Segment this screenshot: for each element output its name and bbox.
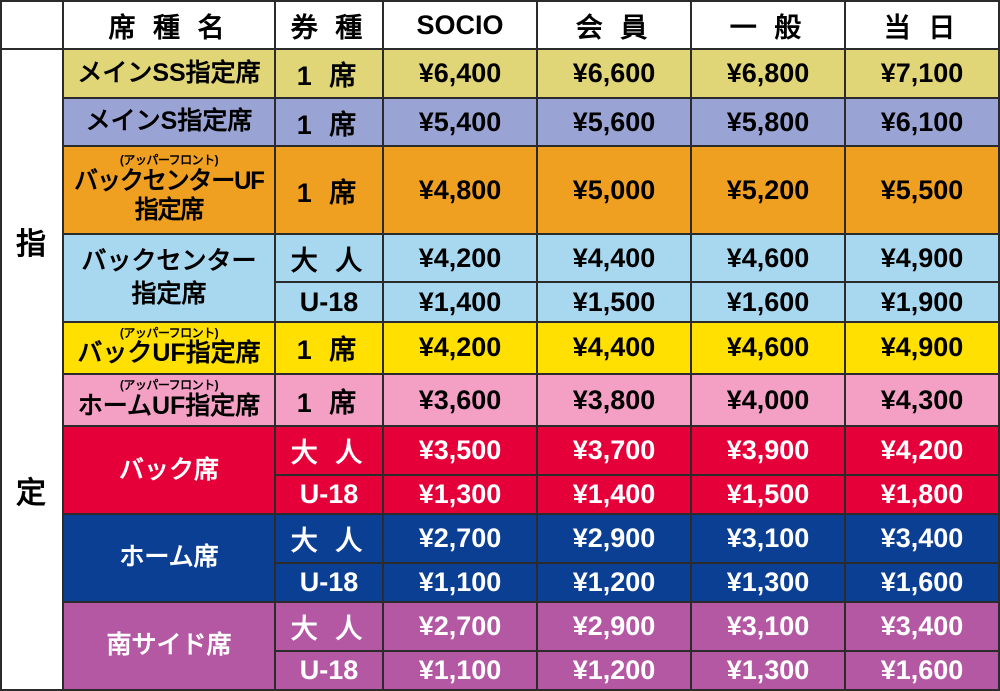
header-price-general: 一 般: [691, 1, 845, 49]
price-sameday-back-u18: ¥1,800: [845, 475, 999, 514]
price-sameday-home-u18: ¥1,600: [845, 563, 999, 602]
seat-name-back-center-uf: (アッパーフロント) バックセンターUF指定席: [63, 146, 275, 233]
table-row: 指 定 メインSS指定席 1 席 ¥6,400 ¥6,600 ¥6,800 ¥7…: [1, 49, 999, 98]
header-price-sameday: 当 日: [845, 1, 999, 49]
header-price-member: 会 員: [537, 1, 691, 49]
ticket-type-main-s: 1 席: [275, 98, 383, 147]
price-general-home-adult: ¥3,100: [691, 514, 845, 563]
group-label-shitei: 指 定: [1, 49, 63, 690]
price-member-south-side-u18: ¥1,200: [537, 651, 691, 690]
seat-ruby-home-uf: (アッパーフロント): [64, 379, 274, 392]
price-socio-main-ss: ¥6,400: [383, 49, 537, 98]
header-ticket-type: 券 種: [275, 1, 383, 49]
price-general-back-center-u18: ¥1,600: [691, 282, 845, 321]
price-general-home-u18: ¥1,300: [691, 563, 845, 602]
ticket-type-back-uf: 1 席: [275, 322, 383, 374]
price-sameday-home-adult: ¥3,400: [845, 514, 999, 563]
price-member-main-s: ¥5,600: [537, 98, 691, 147]
price-sameday-back-center-adult: ¥4,900: [845, 234, 999, 283]
price-member-back-adult: ¥3,700: [537, 426, 691, 475]
price-general-main-ss: ¥6,800: [691, 49, 845, 98]
ticket-type-south-side-u18: U-18: [275, 651, 383, 690]
table-row: 南サイド席 大 人 ¥2,700 ¥2,900 ¥3,100 ¥3,400: [1, 602, 999, 651]
price-member-back-center-adult: ¥4,400: [537, 234, 691, 283]
price-sameday-back-center-uf: ¥5,500: [845, 146, 999, 233]
seat-name-back-center: バックセンター 指定席: [63, 234, 275, 322]
table-row: バックセンター 指定席 大 人 ¥4,200 ¥4,400 ¥4,600 ¥4,…: [1, 234, 999, 283]
ticket-type-south-side-adult: 大 人: [275, 602, 383, 651]
price-member-home-u18: ¥1,200: [537, 563, 691, 602]
price-member-back-center-u18: ¥1,500: [537, 282, 691, 321]
ticket-type-back-center-u18: U-18: [275, 282, 383, 321]
price-general-south-side-adult: ¥3,100: [691, 602, 845, 651]
ticket-type-back-adult: 大 人: [275, 426, 383, 475]
header-price-socio: SOCIO: [383, 1, 537, 49]
group-label-char-1: 指: [16, 230, 48, 260]
group-label-char-2: 定: [16, 479, 48, 509]
table-header-row: 席 種 名 券 種 SOCIO 会 員 一 般 当 日: [1, 1, 999, 49]
table-row: ホーム席 大 人 ¥2,700 ¥2,900 ¥3,100 ¥3,400: [1, 514, 999, 563]
seat-name-main-ss: メインSS指定席: [63, 49, 275, 98]
price-sameday-back-uf: ¥4,900: [845, 322, 999, 374]
price-socio-back-uf: ¥4,200: [383, 322, 537, 374]
table-row: メインS指定席 1 席 ¥5,400 ¥5,600 ¥5,800 ¥6,100: [1, 98, 999, 147]
price-general-main-s: ¥5,800: [691, 98, 845, 147]
price-general-back-u18: ¥1,500: [691, 475, 845, 514]
price-general-back-adult: ¥3,900: [691, 426, 845, 475]
header-group-blank: [1, 1, 63, 49]
price-socio-back-adult: ¥3,500: [383, 426, 537, 475]
price-general-back-center-uf: ¥5,200: [691, 146, 845, 233]
ticket-type-back-center-uf: 1 席: [275, 146, 383, 233]
seat-name-back-uf: (アッパーフロント) バックUF指定席: [63, 322, 275, 374]
price-socio-main-s: ¥5,400: [383, 98, 537, 147]
price-general-back-center-adult: ¥4,600: [691, 234, 845, 283]
seat-name-main-s: メインS指定席: [63, 98, 275, 147]
ticket-type-back-center-adult: 大 人: [275, 234, 383, 283]
price-sameday-home-uf: ¥4,300: [845, 374, 999, 426]
price-member-south-side-adult: ¥2,900: [537, 602, 691, 651]
price-socio-back-u18: ¥1,300: [383, 475, 537, 514]
price-general-home-uf: ¥4,000: [691, 374, 845, 426]
seat-name-back: バック席: [63, 426, 275, 514]
table-row: バック席 大 人 ¥3,500 ¥3,700 ¥3,900 ¥4,200: [1, 426, 999, 475]
ticket-type-home-uf: 1 席: [275, 374, 383, 426]
header-seat-name: 席 種 名: [63, 1, 275, 49]
ticket-price-table: 席 種 名 券 種 SOCIO 会 員 一 般 当 日 指 定 メインSS指定席…: [0, 0, 1000, 691]
price-sameday-main-ss: ¥7,100: [845, 49, 999, 98]
price-socio-south-side-u18: ¥1,100: [383, 651, 537, 690]
price-socio-back-center-u18: ¥1,400: [383, 282, 537, 321]
seat-name-home-uf: (アッパーフロント) ホームUF指定席: [63, 374, 275, 426]
ticket-type-main-ss: 1 席: [275, 49, 383, 98]
price-member-back-center-uf: ¥5,000: [537, 146, 691, 233]
table-row: (アッパーフロント) バックセンターUF指定席 1 席 ¥4,800 ¥5,00…: [1, 146, 999, 233]
price-general-south-side-u18: ¥1,300: [691, 651, 845, 690]
price-socio-back-center-uf: ¥4,800: [383, 146, 537, 233]
price-sameday-south-side-adult: ¥3,400: [845, 602, 999, 651]
price-member-back-u18: ¥1,400: [537, 475, 691, 514]
seat-ruby-back-uf: (アッパーフロント): [64, 327, 274, 340]
price-socio-home-u18: ¥1,100: [383, 563, 537, 602]
price-socio-back-center-adult: ¥4,200: [383, 234, 537, 283]
price-socio-home-uf: ¥3,600: [383, 374, 537, 426]
ticket-type-home-u18: U-18: [275, 563, 383, 602]
price-sameday-back-center-u18: ¥1,900: [845, 282, 999, 321]
price-general-back-uf: ¥4,600: [691, 322, 845, 374]
table-row: (アッパーフロント) バックUF指定席 1 席 ¥4,200 ¥4,400 ¥4…: [1, 322, 999, 374]
price-sameday-main-s: ¥6,100: [845, 98, 999, 147]
seat-name-south-side: 南サイド席: [63, 602, 275, 690]
table-row: (アッパーフロント) ホームUF指定席 1 席 ¥3,600 ¥3,800 ¥4…: [1, 374, 999, 426]
seat-ruby-back-center-uf: (アッパーフロント): [64, 154, 274, 167]
price-socio-south-side-adult: ¥2,700: [383, 602, 537, 651]
price-sameday-back-adult: ¥4,200: [845, 426, 999, 475]
price-member-home-adult: ¥2,900: [537, 514, 691, 563]
seat-name-home: ホーム席: [63, 514, 275, 602]
price-member-main-ss: ¥6,600: [537, 49, 691, 98]
price-sameday-south-side-u18: ¥1,600: [845, 651, 999, 690]
price-socio-home-adult: ¥2,700: [383, 514, 537, 563]
price-member-home-uf: ¥3,800: [537, 374, 691, 426]
ticket-type-back-u18: U-18: [275, 475, 383, 514]
ticket-type-home-adult: 大 人: [275, 514, 383, 563]
price-member-back-uf: ¥4,400: [537, 322, 691, 374]
